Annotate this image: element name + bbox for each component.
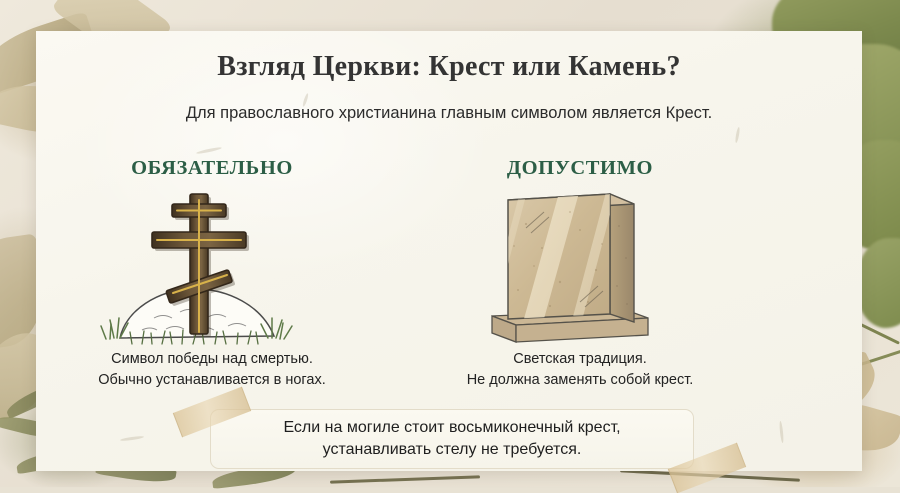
caption-line: Символ победы над смертью. <box>47 349 377 370</box>
column-heading-mandatory: ОБЯЗАТЕЛЬНО <box>62 157 362 180</box>
page-subtitle: Для православного христианина главным си… <box>36 104 862 123</box>
twig-icon <box>330 475 480 483</box>
caption-line: Светская традиция. <box>415 349 745 370</box>
illustration-orthodox-cross <box>62 186 362 351</box>
caption-line: Не должна заменять собой крест. <box>415 370 745 391</box>
headstone-icon <box>430 186 730 351</box>
column-heading-permissible: ДОПУСТИМО <box>430 157 730 180</box>
page-title: Взгляд Церкви: Крест или Камень? <box>36 51 862 83</box>
paper-fiber <box>120 435 144 441</box>
orthodox-cross-icon <box>62 186 362 351</box>
note-line: Если на могиле стоит восьмиконечный крес… <box>283 417 620 439</box>
summary-note-text: Если на могиле стоит восьмиконечный крес… <box>283 417 620 461</box>
content-card: Взгляд Церкви: Крест или Камень? Для пра… <box>36 31 862 471</box>
paper-fiber <box>735 127 741 143</box>
note-line: устанавливать стелу не требуется. <box>283 439 620 461</box>
paper-fiber <box>196 146 222 154</box>
summary-note-box: Если на могиле стоит восьмиконечный крес… <box>210 409 694 469</box>
twig-icon <box>861 349 900 365</box>
caption-mandatory: Символ победы над смертью. Обычно устана… <box>47 349 377 391</box>
caption-line: Обычно устанавливается в ногах. <box>47 370 377 391</box>
caption-permissible: Светская традиция. Не должна заменять со… <box>415 349 745 391</box>
illustration-granite-stele <box>430 186 730 351</box>
stele-side <box>610 194 634 322</box>
paper-fiber <box>779 421 784 443</box>
twig-icon <box>620 469 800 481</box>
moss-icon <box>856 238 900 328</box>
